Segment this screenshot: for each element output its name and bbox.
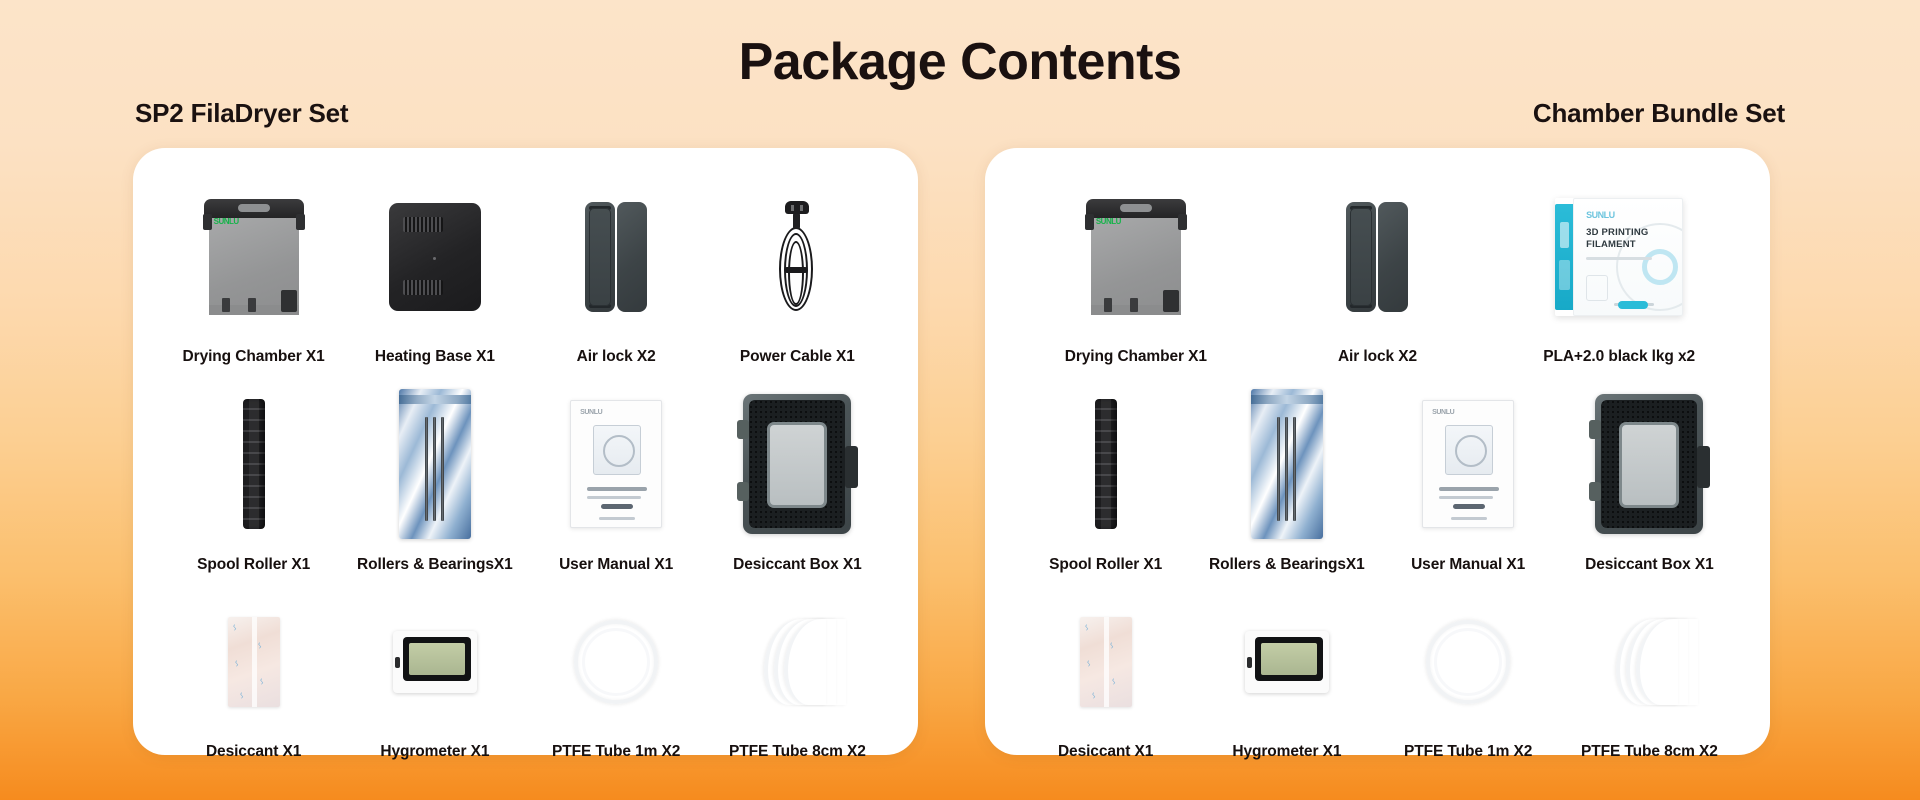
product-item-spool-roller[interactable]: Spool Roller X1: [163, 372, 344, 580]
product-row: Spool Roller X1 Rollers & BearingsX1 SUN…: [163, 372, 888, 580]
product-label: Power Cable X1: [740, 348, 855, 372]
product-label: Desiccant Box X1: [733, 556, 862, 580]
sunlu-logo: SUNLU: [1432, 409, 1454, 416]
filament-box-icon: SUNLU 3D PRINTINGFILAMENT: [1498, 166, 1740, 348]
desiccant-box-icon: [707, 372, 888, 556]
product-label: Desiccant X1: [206, 743, 301, 765]
product-label: Air lock X2: [1338, 348, 1417, 372]
ptfe-tube-short-icon: [1559, 580, 1740, 743]
product-label: Hygrometer X1: [1232, 743, 1341, 765]
product-item-air-lock[interactable]: Air lock X2: [526, 166, 707, 372]
drying-chamber-icon: SUNLU: [163, 166, 344, 348]
product-label: User Manual X1: [559, 556, 673, 580]
product-row: ᛊᛊᛊ ᛊᛊ Desiccant X1 Hygrometer X1 PTFE T…: [163, 580, 888, 765]
heating-base-icon: [344, 166, 525, 348]
product-row: ᛊᛊᛊ ᛊᛊ Desiccant X1 Hygrometer X1 PTFE T…: [1015, 580, 1740, 765]
product-label: PTFE Tube 1m X2: [1404, 743, 1532, 765]
product-item-desiccant[interactable]: ᛊᛊᛊ ᛊᛊ Desiccant X1: [163, 580, 344, 765]
ptfe-tube-ring-icon: [1378, 580, 1559, 743]
user-manual-icon: SUNLU: [1378, 372, 1559, 556]
air-lock-icon: [1257, 166, 1499, 348]
section-header-right: Chamber Bundle Set: [1533, 98, 1785, 129]
page-title: Package Contents: [0, 32, 1920, 92]
sunlu-logo: SUNLU: [214, 217, 239, 226]
product-label: Drying Chamber X1: [183, 348, 325, 372]
product-label: Rollers & BearingsX1: [1209, 556, 1365, 580]
product-label: Spool Roller X1: [1049, 556, 1162, 580]
sp2-filadryer-set-card: SUNLU Drying Chamber X1 Heating Base X1: [133, 148, 918, 755]
product-item-ptfe-tube-1m[interactable]: PTFE Tube 1m X2: [1378, 580, 1559, 765]
section-header-left: SP2 FilaDryer Set: [135, 98, 348, 129]
product-item-desiccant[interactable]: ᛊᛊᛊ ᛊᛊ Desiccant X1: [1015, 580, 1196, 765]
air-lock-icon: [526, 166, 707, 348]
ptfe-tube-short-icon: [707, 580, 888, 743]
product-item-ptfe-tube-1m[interactable]: PTFE Tube 1m X2: [526, 580, 707, 765]
rollers-bearings-bag-icon: [1196, 372, 1377, 556]
product-label: Heating Base X1: [375, 348, 495, 372]
product-label: Air lock X2: [577, 348, 656, 372]
product-item-desiccant-box[interactable]: Desiccant Box X1: [1559, 372, 1740, 580]
product-label: PTFE Tube 8cm X2: [729, 743, 866, 765]
product-item-drying-chamber[interactable]: SUNLU Drying Chamber X1: [1015, 166, 1257, 372]
product-item-ptfe-tube-8cm[interactable]: PTFE Tube 8cm X2: [1559, 580, 1740, 765]
product-label: Desiccant Box X1: [1585, 556, 1714, 580]
product-grid-left: SUNLU Drying Chamber X1 Heating Base X1: [163, 166, 888, 765]
product-item-hygrometer[interactable]: Hygrometer X1: [344, 580, 525, 765]
product-label: Drying Chamber X1: [1065, 348, 1207, 372]
desiccant-packet-icon: ᛊᛊᛊ ᛊᛊ: [1015, 580, 1196, 743]
product-item-power-cable[interactable]: Power Cable X1: [707, 166, 888, 372]
sunlu-logo: SUNLU: [1586, 210, 1615, 220]
desiccant-box-icon: [1559, 372, 1740, 556]
product-item-hygrometer[interactable]: Hygrometer X1: [1196, 580, 1377, 765]
product-label: Spool Roller X1: [197, 556, 310, 580]
product-item-spool-roller[interactable]: Spool Roller X1: [1015, 372, 1196, 580]
product-label: PLA+2.0 black lkg x2: [1543, 348, 1695, 372]
product-grid-right: SUNLU Drying Chamber X1 Air lock X2: [1015, 166, 1740, 765]
product-item-rollers-bearings[interactable]: Rollers & BearingsX1: [1196, 372, 1377, 580]
spool-roller-icon: [1015, 372, 1196, 556]
rollers-bearings-bag-icon: [344, 372, 525, 556]
product-item-user-manual[interactable]: SUNLU User Manual X1: [526, 372, 707, 580]
product-item-ptfe-tube-8cm[interactable]: PTFE Tube 8cm X2: [707, 580, 888, 765]
filament-box-title: 3D PRINTINGFILAMENT: [1586, 227, 1648, 252]
product-item-desiccant-box[interactable]: Desiccant Box X1: [707, 372, 888, 580]
product-item-rollers-bearings[interactable]: Rollers & BearingsX1: [344, 372, 525, 580]
product-label: User Manual X1: [1411, 556, 1525, 580]
product-label: Rollers & BearingsX1: [357, 556, 513, 580]
product-row: SUNLU Drying Chamber X1 Air lock X2: [1015, 166, 1740, 372]
spool-roller-icon: [163, 372, 344, 556]
ptfe-tube-ring-icon: [526, 580, 707, 743]
product-item-heating-base[interactable]: Heating Base X1: [344, 166, 525, 372]
hygrometer-icon: [344, 580, 525, 743]
hygrometer-icon: [1196, 580, 1377, 743]
desiccant-packet-icon: ᛊᛊᛊ ᛊᛊ: [163, 580, 344, 743]
drying-chamber-icon: SUNLU: [1015, 166, 1257, 348]
product-label: PTFE Tube 1m X2: [552, 743, 680, 765]
chamber-bundle-set-card: SUNLU Drying Chamber X1 Air lock X2: [985, 148, 1770, 755]
product-row: SUNLU Drying Chamber X1 Heating Base X1: [163, 166, 888, 372]
power-cable-icon: [707, 166, 888, 348]
product-label: Hygrometer X1: [380, 743, 489, 765]
product-item-filament[interactable]: SUNLU 3D PRINTINGFILAMENT PLA+2.0 black …: [1498, 166, 1740, 372]
user-manual-icon: SUNLU: [526, 372, 707, 556]
product-item-user-manual[interactable]: SUNLU User Manual X1: [1378, 372, 1559, 580]
sunlu-logo: SUNLU: [580, 409, 602, 416]
product-label: Desiccant X1: [1058, 743, 1153, 765]
product-row: Spool Roller X1 Rollers & BearingsX1 SUN…: [1015, 372, 1740, 580]
product-item-drying-chamber[interactable]: SUNLU Drying Chamber X1: [163, 166, 344, 372]
product-label: PTFE Tube 8cm X2: [1581, 743, 1718, 765]
product-item-air-lock[interactable]: Air lock X2: [1257, 166, 1499, 372]
sunlu-logo: SUNLU: [1096, 217, 1121, 226]
